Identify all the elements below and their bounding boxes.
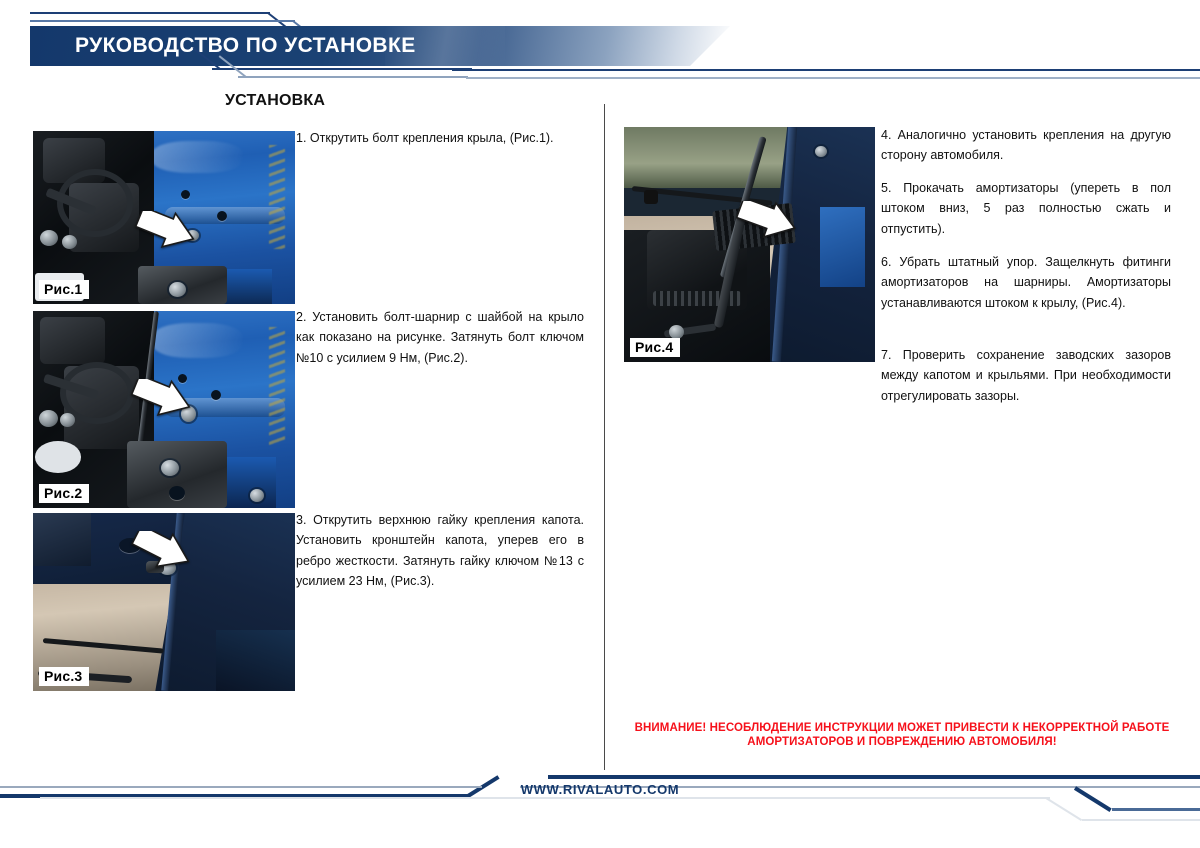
- footer-line-tail: [1112, 808, 1200, 811]
- figure-1-label: Рис.1: [39, 280, 89, 299]
- footer-paleline-tail: [1082, 819, 1200, 821]
- header-decor-line-top-dark: [30, 12, 270, 14]
- pointer-arrow-icon: [135, 211, 197, 253]
- column-divider: [604, 104, 605, 770]
- figure-4-image: Рис.4: [624, 127, 875, 362]
- figure-1-image: Рис.1: [33, 131, 295, 304]
- page-footer: WWW.RIVALAUTO.COM: [0, 770, 1200, 848]
- step-2-text: 2. Установить болт-шарнир с шайбой на кр…: [296, 307, 584, 368]
- pointer-arrow-icon: [131, 379, 193, 421]
- header-decor-line-top-light: [30, 20, 295, 22]
- figure-2-label: Рис.2: [39, 484, 89, 503]
- figure-3-label: Рис.3: [39, 667, 89, 686]
- footer-line-right: [548, 775, 1200, 779]
- header-decor-line-bottom-light: [238, 76, 468, 78]
- step-1-text: 1. Открутить болт крепления крыла, (Рис.…: [296, 128, 584, 148]
- header-rule-secondary: [466, 77, 1200, 79]
- header-decor-line-bottom-dark: [212, 68, 472, 70]
- page-title: РУКОВОДСТВО ПО УСТАНОВКЕ: [75, 26, 416, 66]
- figure-2-image: Рис.2: [33, 311, 295, 508]
- step-6-text: 6. Убрать штатный упор. Защелкнуть фитин…: [881, 252, 1171, 313]
- section-title: УСТАНОВКА: [225, 92, 325, 110]
- pointer-arrow-icon: [736, 201, 798, 243]
- footer-url[interactable]: WWW.RIVALAUTO.COM: [0, 782, 1200, 797]
- step-3-text: 3. Открутить верхнюю гайку крепления кап…: [296, 510, 584, 591]
- pointer-arrow-icon: [131, 531, 193, 573]
- step-4-text: 4. Аналогично установить крепления на др…: [881, 125, 1171, 166]
- step-5-text: 5. Прокачать амортизаторы (упереть в пол…: [881, 178, 1171, 239]
- footer-paleline-diagonal: [1045, 797, 1082, 821]
- page-header: РУКОВОДСТВО ПО УСТАНОВКЕ: [0, 0, 1200, 92]
- footer-paleline: [40, 797, 1050, 799]
- warning-text: ВНИМАНИЕ! НЕСОБЛЮДЕНИЕ ИНСТРУКЦИИ МОЖЕТ …: [612, 722, 1192, 750]
- step-7-text: 7. Проверить сохранение заводских зазоро…: [881, 345, 1171, 406]
- figure-4-label: Рис.4: [630, 338, 680, 357]
- figure-3-image: Рис.3: [33, 513, 295, 691]
- header-rule-primary: [452, 69, 1200, 71]
